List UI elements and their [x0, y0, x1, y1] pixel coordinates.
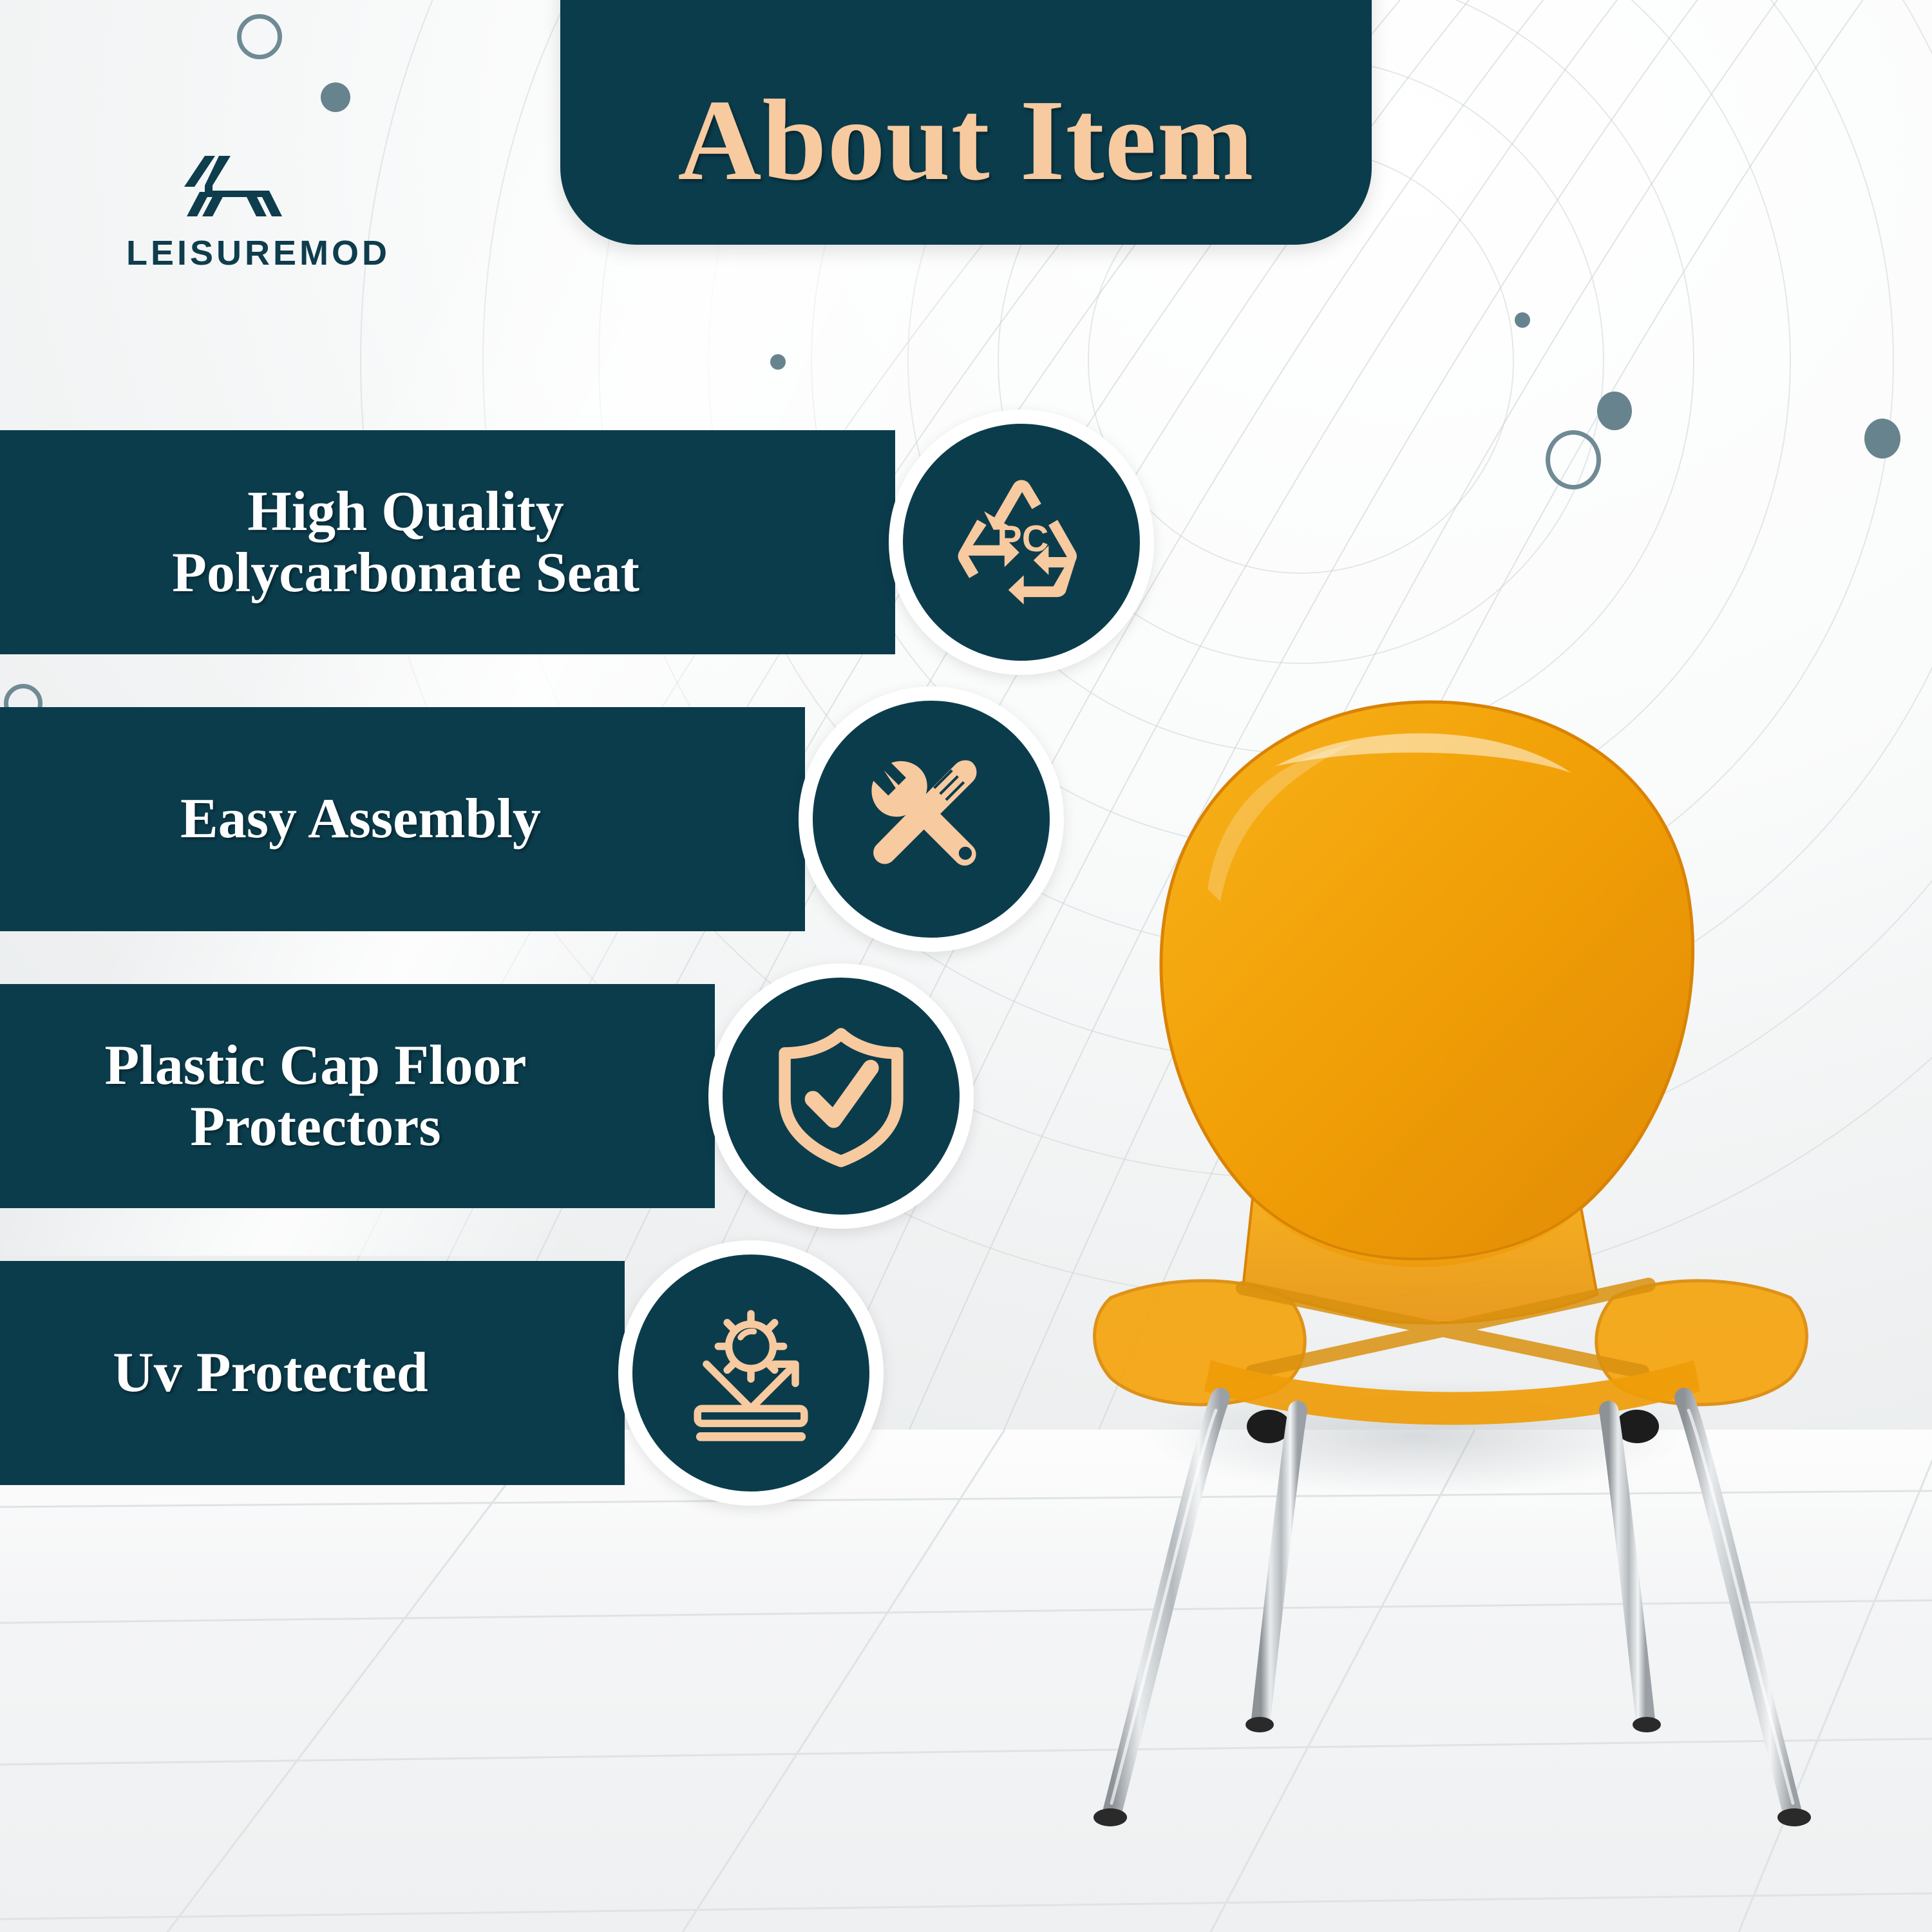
decor-circle-filled-3 — [1515, 312, 1530, 328]
pc-recycle-icon: PC — [947, 468, 1095, 616]
feature-badge[interactable] — [618, 1240, 884, 1506]
page-title: About Item — [678, 82, 1255, 198]
product-image — [1082, 676, 1823, 1900]
decor-circle-filled-5 — [1864, 419, 1900, 459]
infographic-canvas: About Item LEISUREMOD High Quality Polyc… — [0, 0, 1932, 1932]
feature-badge[interactable] — [799, 687, 1064, 952]
feature-badge[interactable]: PC — [889, 410, 1154, 675]
feature-badge[interactable] — [708, 963, 974, 1229]
header-banner: About Item — [560, 0, 1372, 245]
feature-bar: Plastic Cap Floor Protectors — [0, 984, 715, 1208]
brand-name: LEISUREMOD — [126, 233, 345, 273]
feature-bar: High Quality Polycarbonate Seat — [0, 430, 895, 654]
decor-circle-filled-2 — [770, 354, 786, 370]
decor-circle-outline-1 — [237, 14, 282, 59]
decor-circle-filled-1 — [321, 82, 350, 112]
feature-row-uv-protected: Uv Protected — [0, 1261, 1224, 1538]
chaise-lounge-chair-icon — [171, 152, 300, 223]
uv-shield-sun-icon — [677, 1299, 825, 1447]
wrench-screwdriver-icon — [857, 745, 1005, 893]
svg-text:PC: PC — [997, 518, 1048, 560]
feature-bar: Easy Assembly — [0, 707, 805, 931]
feature-bar: Uv Protected — [0, 1261, 625, 1485]
feature-row-floor-protectors: Plastic Cap Floor Protectors — [0, 984, 1224, 1261]
feature-label: Plastic Cap Floor Protectors — [104, 1035, 526, 1157]
brand-logo[interactable]: LEISUREMOD — [126, 152, 345, 273]
feature-row-assembly: Easy Assembly — [0, 707, 1224, 984]
feature-label: Easy Assembly — [180, 788, 541, 849]
feature-list: High Quality Polycarbonate Seat PC Easy … — [0, 430, 1224, 1538]
feature-row-polycarbonate: High Quality Polycarbonate Seat PC — [0, 430, 1224, 707]
shield-check-icon — [767, 1022, 915, 1170]
feature-label: High Quality Polycarbonate Seat — [172, 481, 639, 603]
feature-label: Uv Protected — [113, 1342, 428, 1403]
decor-circle-outline-2 — [1546, 430, 1601, 489]
decor-circle-filled-4 — [1597, 392, 1632, 430]
